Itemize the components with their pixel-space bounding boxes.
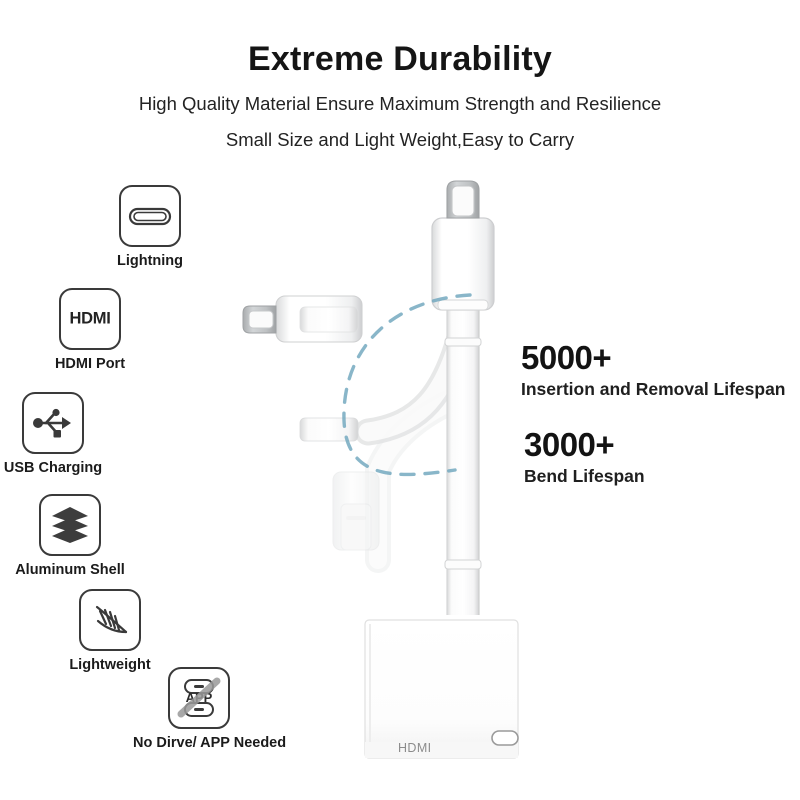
feature-lightning[interactable]: Lightning [84,185,216,270]
stacked-layers-icon [39,494,101,556]
ghost-connector-down [333,472,379,550]
bend-path-arc [344,295,470,474]
feature-aluminum-shell[interactable]: Aluminum Shell [4,494,136,579]
header-block: Extreme Durability High Quality Material… [0,42,800,150]
lightning-connector-top [432,181,494,310]
hdmi-text-icon: HDMI [59,288,121,350]
feature-usb-charging[interactable]: USB Charging [0,392,119,477]
page-title: Extreme Durability [0,42,800,78]
feature-label: HDMI Port [24,357,156,373]
usb-trident-icon [22,392,84,454]
adapter-hdmi-label: HDMI [398,741,432,755]
subtitle-line-1: High Quality Material Ensure Maximum Str… [0,95,800,114]
no-app-icon: APP [168,667,230,729]
stat-number: 3000+ [524,428,645,461]
ghost-cable-left [368,330,462,432]
product-infographic: Extreme Durability High Quality Material… [0,0,800,800]
stat-insertion-lifespan: 5000+ Insertion and Removal Lifespan [521,341,786,399]
ghost-cable-down [378,400,455,560]
adapter-lightning-port [492,731,518,745]
feather-icon [79,589,141,651]
lightning-cable [445,285,481,615]
feature-lightweight[interactable]: Lightweight [44,589,176,674]
stat-description: Insertion and Removal Lifespan [521,381,786,399]
feature-no-app-needed[interactable]: APP No Dirve/ APP Needed [133,667,265,752]
lightning-port-icon [119,185,181,247]
feature-hdmi-port[interactable]: HDMI HDMI Port [24,288,156,373]
stat-bend-lifespan: 3000+ Bend Lifespan [524,428,645,486]
feature-label: Lightning [84,254,216,270]
feature-label: No Dirve/ APP Needed [133,736,265,752]
feature-label: USB Charging [0,461,119,477]
stat-description: Bend Lifespan [524,468,645,486]
hdmi-icon-text: HDMI [61,310,119,329]
stat-number: 5000+ [521,341,786,374]
feature-label: Aluminum Shell [4,563,136,579]
lightning-connector-left [243,296,362,441]
subtitle-line-2: Small Size and Light Weight,Easy to Carr… [0,131,800,150]
adapter-body [365,620,518,758]
